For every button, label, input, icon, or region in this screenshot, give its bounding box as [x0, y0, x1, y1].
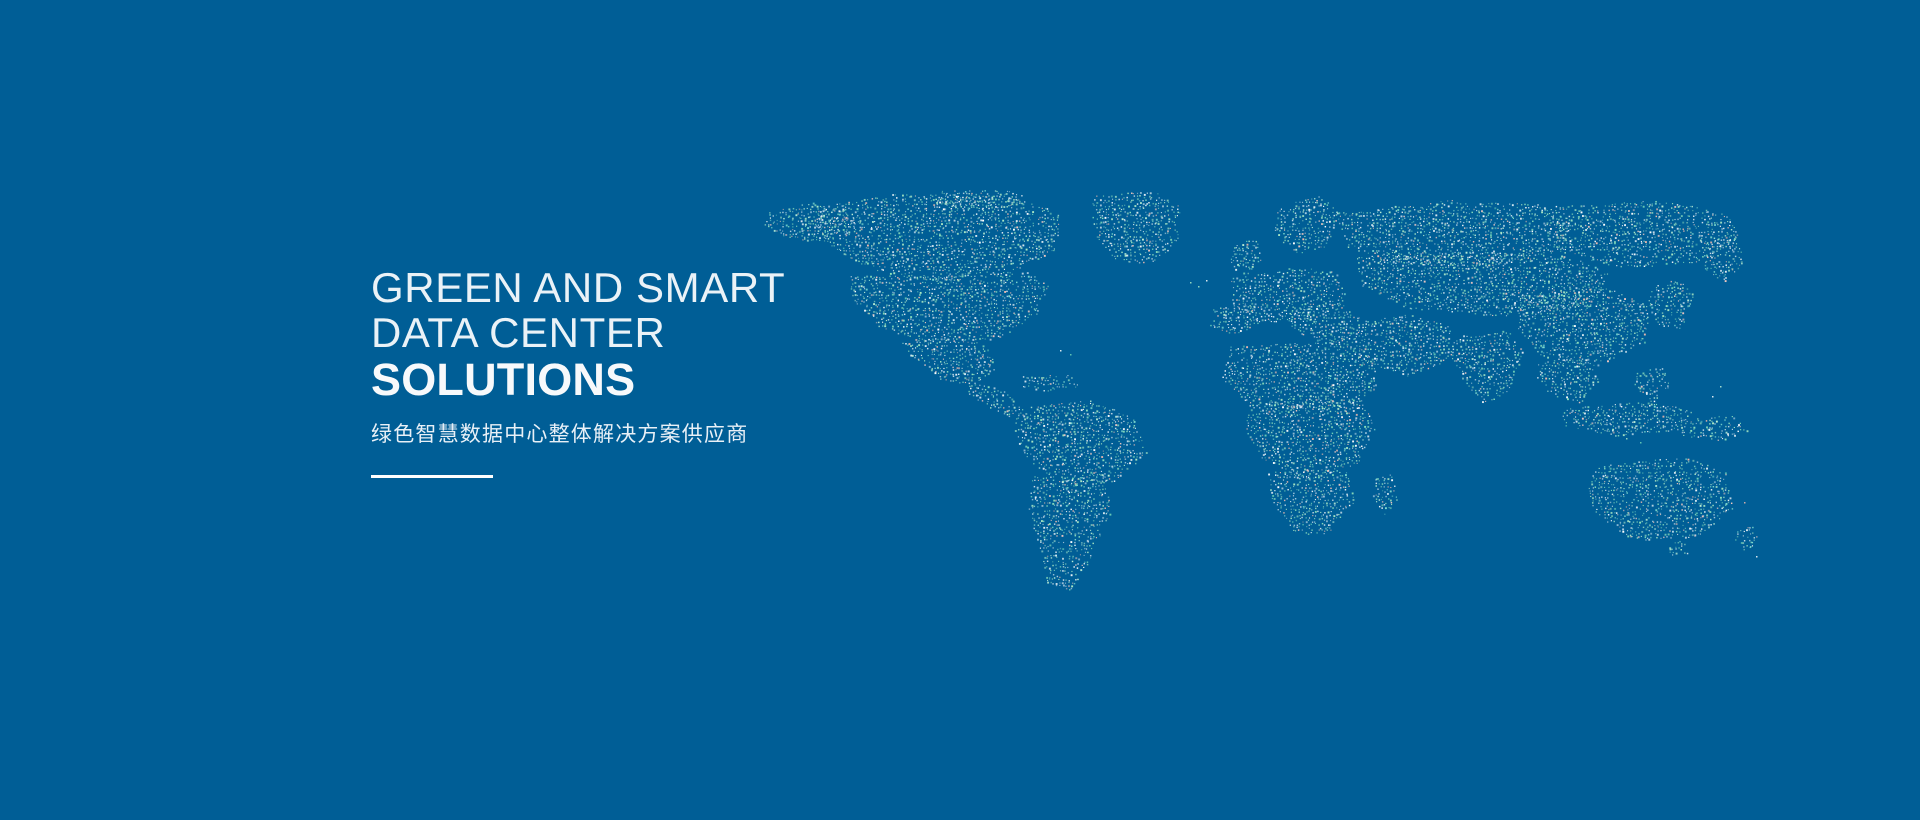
subtitle-chinese: 绿色智慧数据中心整体解决方案供应商: [371, 421, 1011, 449]
accent-rule: [371, 475, 493, 478]
headline-line-1: GREEN AND SMART: [371, 265, 1011, 310]
hero-banner: GREEN AND SMART DATA CENTER SOLUTIONS 绿色…: [0, 0, 1920, 820]
headline-line-3: SOLUTIONS: [371, 355, 1011, 405]
headline-block: GREEN AND SMART DATA CENTER SOLUTIONS 绿色…: [371, 265, 1011, 478]
headline-line-2: DATA CENTER: [371, 310, 1011, 355]
